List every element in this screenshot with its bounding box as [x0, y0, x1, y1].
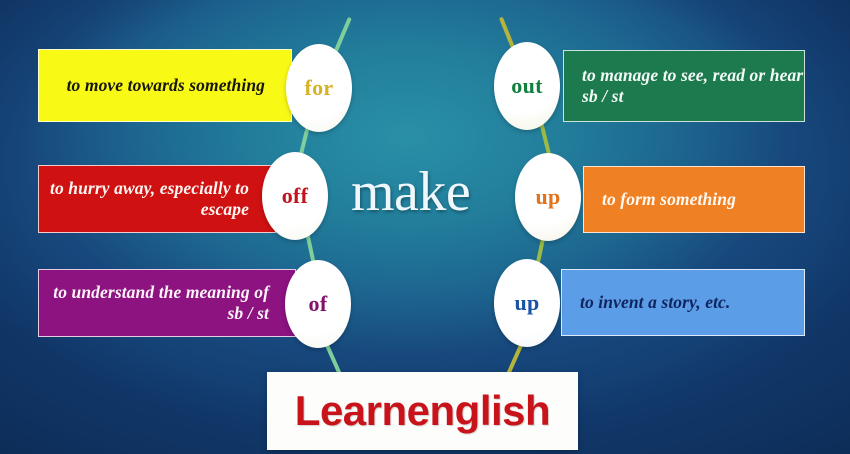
definition-text-up-invent: to invent a story, etc.: [580, 292, 730, 313]
particle-bubble-out[interactable]: out: [494, 42, 560, 130]
definition-box-off[interactable]: to hurry away, especially to escape: [38, 165, 276, 233]
particle-label-for: for: [305, 75, 334, 101]
definition-box-up-invent[interactable]: to invent a story, etc.: [561, 269, 805, 336]
definition-text-for: to move towards something: [67, 75, 265, 96]
definition-box-for[interactable]: to move towards something: [38, 49, 292, 122]
particle-label-of: of: [309, 291, 328, 317]
definition-box-up-form[interactable]: to form something: [583, 166, 805, 233]
particle-bubble-for[interactable]: for: [286, 44, 352, 132]
definition-text-up-form: to form something: [602, 189, 736, 210]
particle-label-off: off: [282, 183, 309, 209]
brand-banner-label: Learnenglish: [295, 387, 550, 435]
infographic-canvas: to move towards something to hurry away,…: [0, 0, 850, 454]
definition-text-of: to understand the meaning of sb / st: [39, 282, 269, 323]
definition-box-out[interactable]: to manage to see, read or hear sb / st: [563, 50, 805, 122]
particle-bubble-of[interactable]: of: [285, 260, 351, 348]
center-word-make: make: [351, 164, 470, 220]
definition-text-out: to manage to see, read or hear sb / st: [582, 65, 804, 106]
brand-banner[interactable]: Learnenglish: [267, 372, 578, 450]
particle-bubble-up-form[interactable]: up: [515, 153, 581, 241]
particle-bubble-off[interactable]: off: [262, 152, 328, 240]
particle-label-out: out: [511, 73, 542, 99]
definition-box-of[interactable]: to understand the meaning of sb / st: [38, 269, 296, 337]
center-word-label: make: [351, 161, 470, 223]
particle-label-up-form: up: [535, 184, 560, 210]
definition-text-off: to hurry away, especially to escape: [39, 178, 249, 219]
particle-label-up-invent: up: [514, 290, 539, 316]
particle-bubble-up-invent[interactable]: up: [494, 259, 560, 347]
